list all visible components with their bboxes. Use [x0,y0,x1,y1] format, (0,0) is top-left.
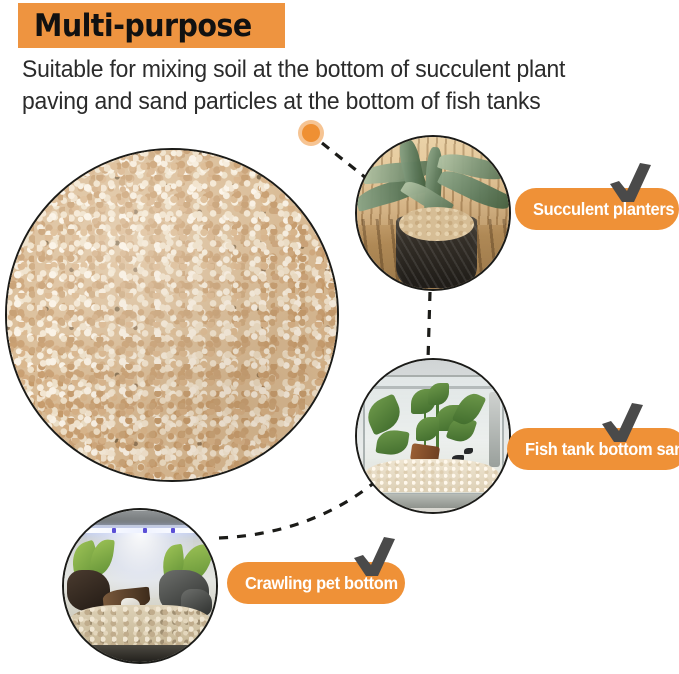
subtitle-line-1: Suitable for mixing soil at the bottom o… [22,54,630,86]
use-case-photo-fish-tank-bottom-sand [355,358,511,514]
connector-dot [298,120,324,146]
use-case-label-fish-tank-bottom-sand[interactable]: Fish tank bottom sand [507,428,679,470]
product-photo-gravel [5,148,339,482]
use-case-photo-crawling-pet-bottom [62,508,218,664]
subtitle-line-2: paving and sand particles at the bottom … [22,86,630,118]
gravel-texture [5,148,339,482]
connector-pet-to-tank [219,482,375,538]
crawling-pet-scene [62,508,218,664]
checkmark-icon-crawling-pet [348,534,400,584]
fish-tank-scene [355,358,511,514]
infographic-panel: Multi-purpose Suitable for mixing soil a… [0,0,679,674]
connector-succulent-to-tank [428,292,430,360]
use-case-photo-succulent-planters [355,135,511,291]
connector-dot-core [302,124,320,142]
checkmark-icon-fish-tank [596,400,648,450]
succulent-scene [355,135,511,291]
checkmark-icon-succulent [604,160,656,210]
badge-label: Multi-purpose [34,8,252,44]
section-subtitle: Suitable for mixing soil at the bottom o… [22,54,630,118]
section-badge: Multi-purpose [18,3,285,48]
